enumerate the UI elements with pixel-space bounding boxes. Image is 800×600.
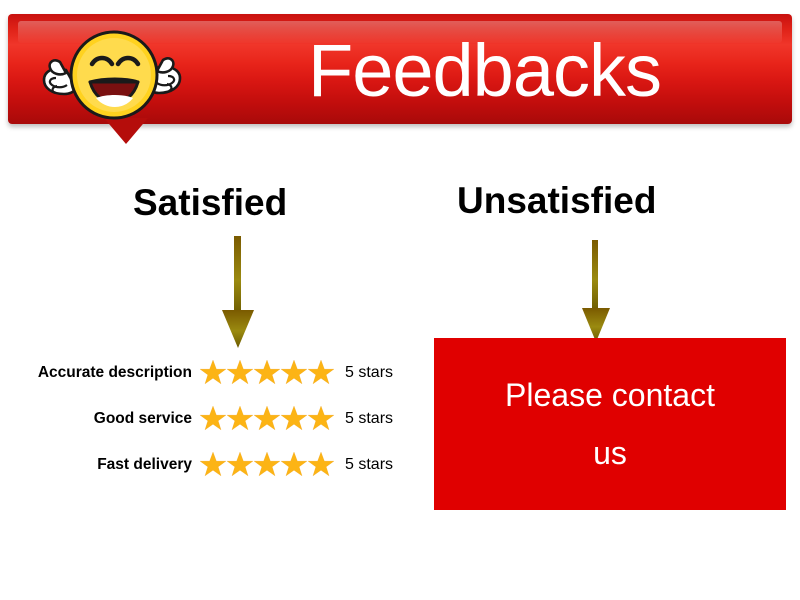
rating-score: 5 stars bbox=[345, 406, 393, 432]
list-item: Good service 5 stars bbox=[0, 406, 420, 452]
rating-score: 5 stars bbox=[345, 360, 393, 386]
star-rating bbox=[198, 356, 338, 390]
rating-label: Accurate description bbox=[0, 360, 192, 386]
laughing-smiley-thumbs-up-icon bbox=[30, 18, 200, 138]
contact-line-2: us bbox=[593, 425, 627, 481]
star-rating bbox=[198, 402, 338, 436]
rating-label: Good service bbox=[0, 406, 192, 432]
contact-message: Please contact us bbox=[434, 338, 786, 510]
satisfied-heading: Satisfied bbox=[133, 182, 287, 224]
list-item: Fast delivery 5 stars bbox=[0, 452, 420, 498]
rating-score: 5 stars bbox=[345, 452, 393, 478]
contact-line-1: Please contact bbox=[505, 367, 715, 423]
rating-label: Fast delivery bbox=[0, 452, 192, 478]
banner-title: Feedbacks bbox=[308, 28, 778, 114]
down-arrow-icon bbox=[214, 236, 262, 352]
unsatisfied-heading: Unsatisfied bbox=[457, 180, 656, 222]
contact-box: Please contact us bbox=[434, 338, 786, 510]
star-rating bbox=[198, 448, 338, 482]
down-arrow-icon bbox=[572, 240, 620, 346]
ratings-list: Accurate description 5 stars Good servic… bbox=[0, 360, 420, 498]
feedback-banner: Feedbacks bbox=[8, 14, 792, 134]
list-item: Accurate description 5 stars bbox=[0, 360, 420, 406]
